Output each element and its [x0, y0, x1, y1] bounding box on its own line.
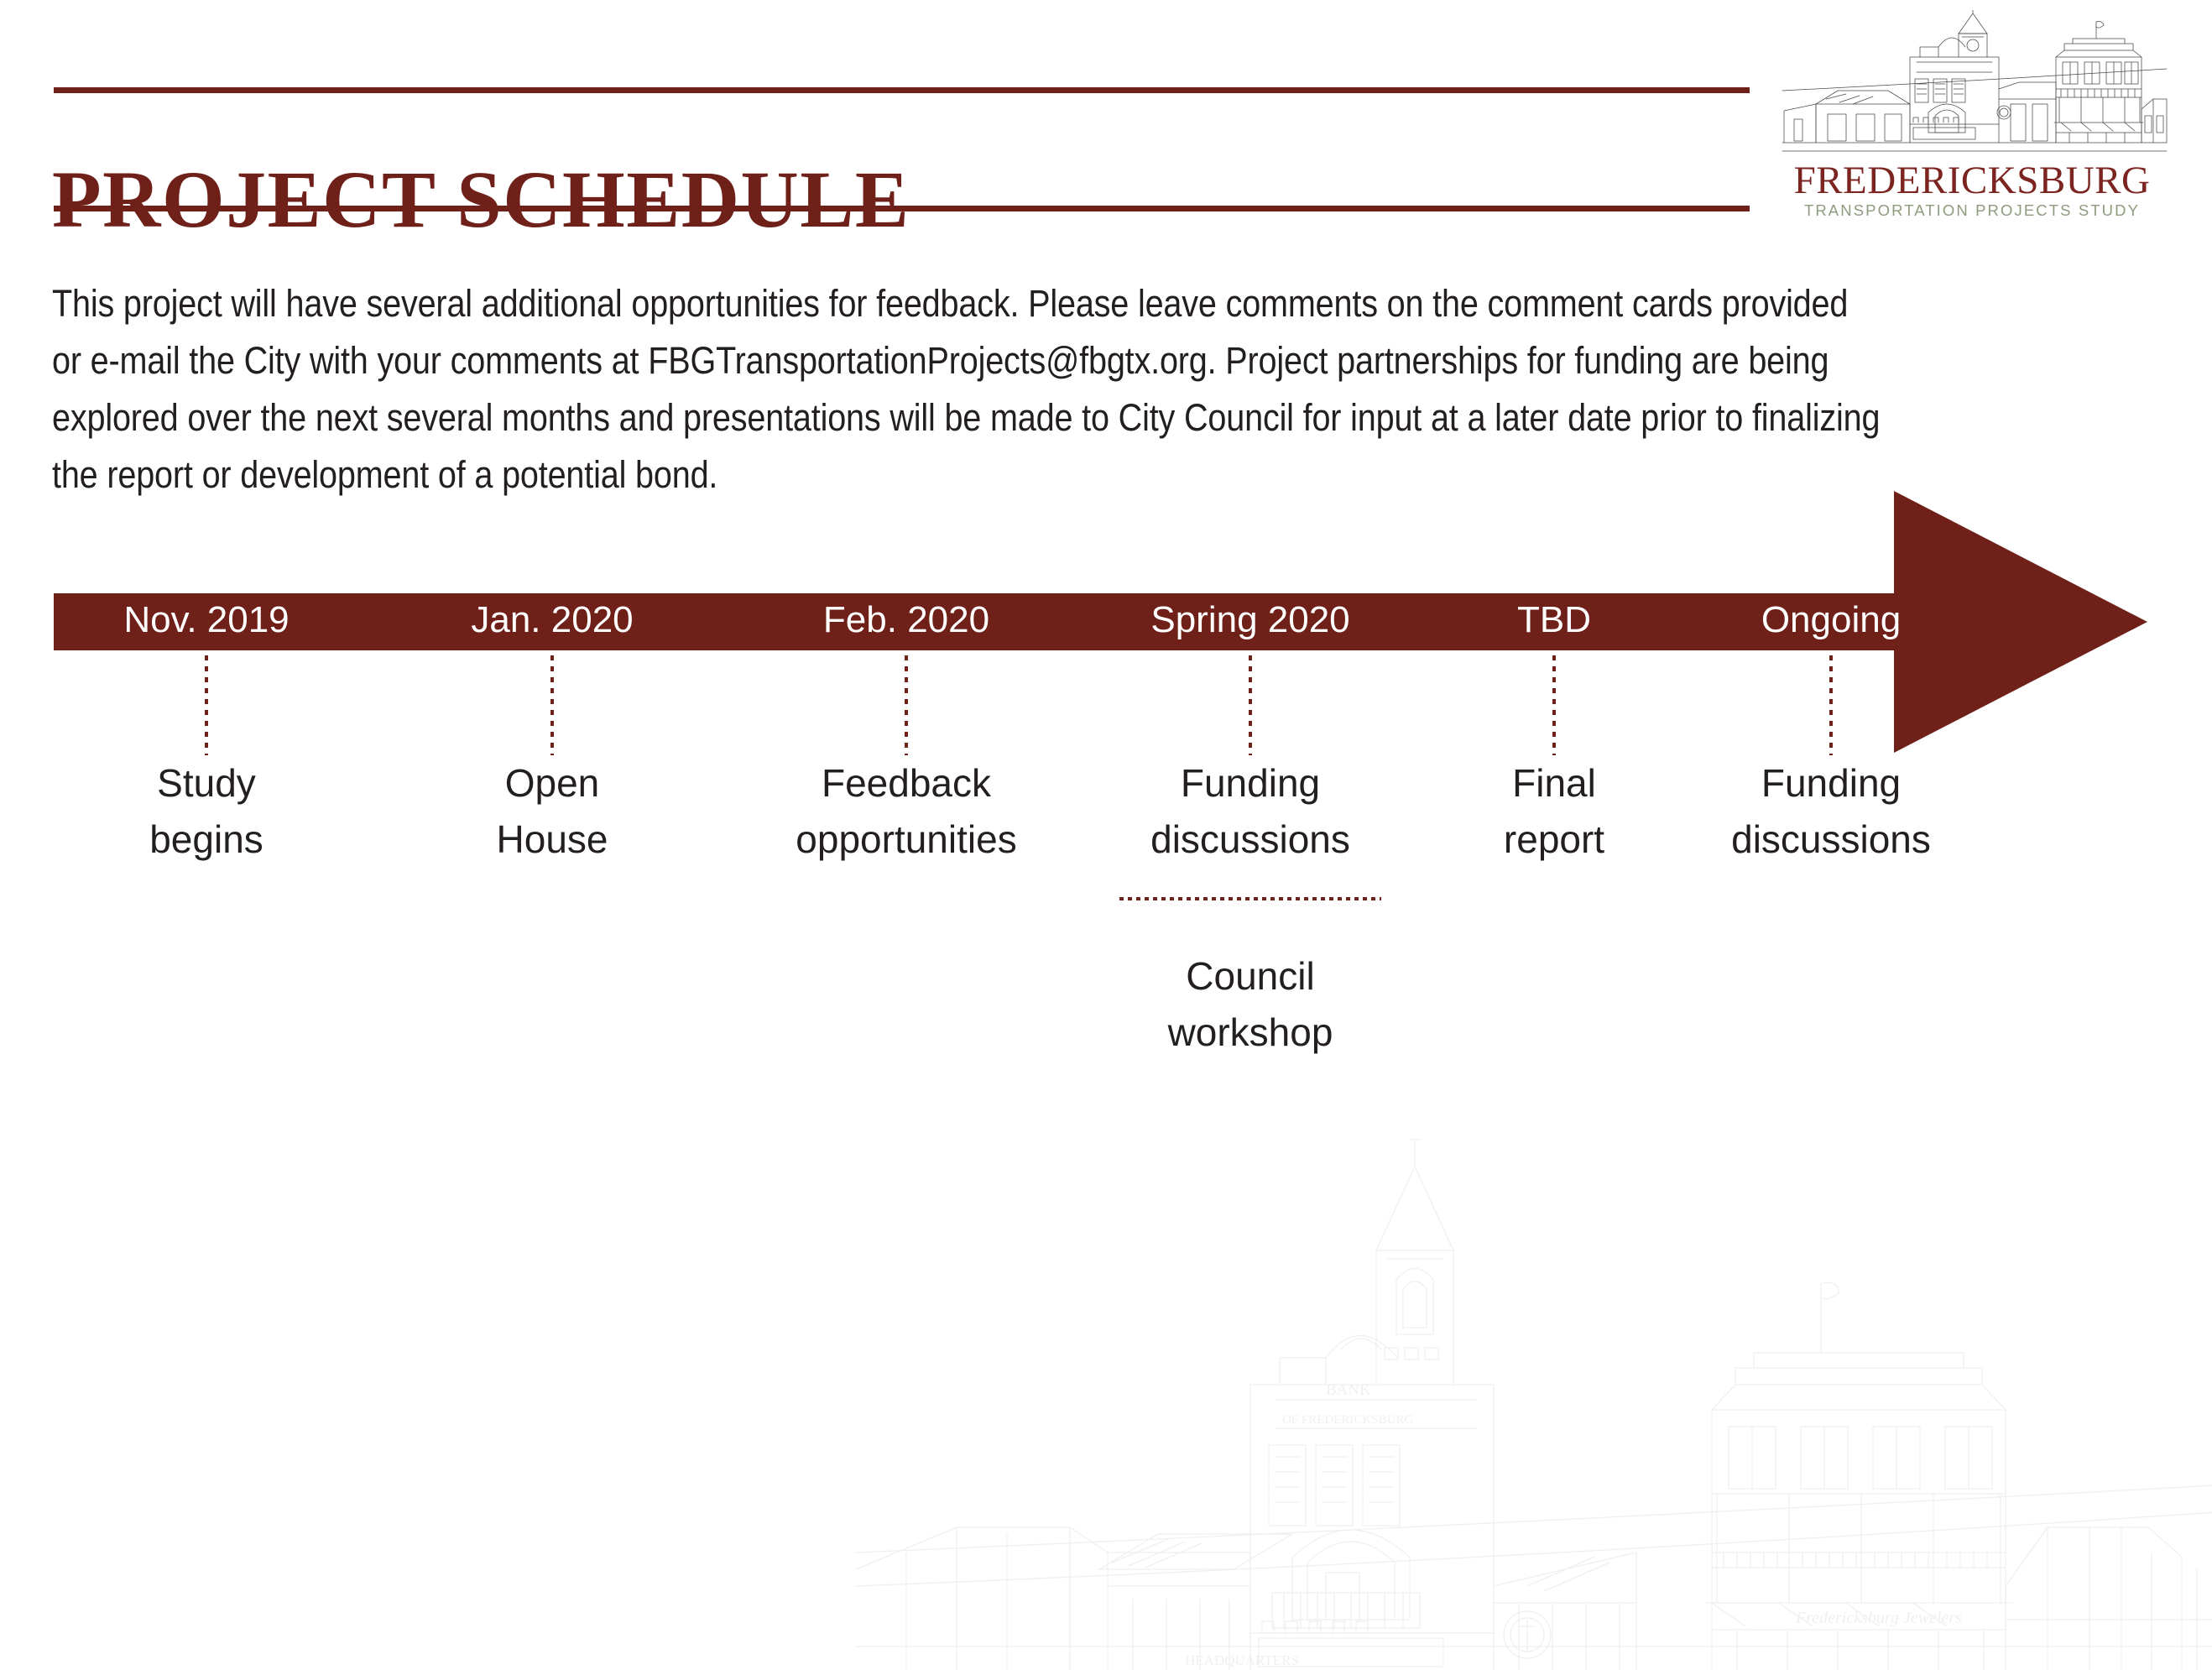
period-label-5: Ongoing	[1761, 598, 1901, 642]
connector-line-3	[1249, 645, 1252, 755]
streetscape-icon	[1779, 10, 2170, 161]
page-title: PROJECT SCHEDULE	[52, 153, 910, 247]
connector-line-5	[1829, 645, 1833, 755]
project-schedule-timeline: Nov. 2019 Jan. 2020 Feb. 2020 Spring 202…	[0, 0, 2212, 1658]
logo-wordmark: FREDERICKSBURG	[1769, 159, 2175, 201]
period-label-1: Jan. 2020	[471, 598, 633, 642]
sub-milestone-council-workshop: Council workshop	[1168, 948, 1333, 1061]
milestone-4: Final report	[1504, 755, 1604, 868]
period-label-4: TBD	[1517, 598, 1591, 642]
milestone-5: Funding discussions	[1731, 755, 1931, 868]
period-label-3: Spring 2020	[1150, 598, 1349, 642]
fredericksburg-logo: FREDERICKSBURG TRANSPORTATION PROJECTS S…	[1769, 10, 2175, 218]
title-rule-top	[54, 87, 1750, 93]
period-label-2: Feb. 2020	[823, 598, 989, 642]
timeline-arrow-shape	[54, 491, 2152, 753]
svg-text:OF FREDERICKSBURG: OF FREDERICKSBURG	[1282, 1413, 1413, 1427]
sub-milestone-divider	[1119, 897, 1381, 900]
milestone-1: Open House	[497, 755, 608, 868]
intro-paragraph: This project will have several additiona…	[52, 275, 1883, 504]
background-watermark-illustration: BANK OF FREDERICKSBURG HEADQUARTERS	[856, 1133, 2212, 1670]
milestone-0: Study begins	[149, 755, 263, 868]
title-rule-bottom	[54, 206, 1750, 211]
connector-line-0	[205, 645, 208, 755]
period-label-0: Nov. 2019	[123, 598, 289, 642]
connector-line-2	[905, 645, 908, 755]
connector-line-1	[550, 645, 554, 755]
connector-line-4	[1552, 645, 1556, 755]
svg-text:Fredericksburg Jewelers: Fredericksburg Jewelers	[1795, 1609, 1962, 1627]
svg-text:HEADQUARTERS: HEADQUARTERS	[1185, 1652, 1299, 1668]
logo-subwordmark: TRANSPORTATION PROJECTS STUDY	[1769, 201, 2175, 220]
milestone-3: Funding discussions	[1150, 755, 1350, 868]
svg-text:BANK: BANK	[1326, 1381, 1371, 1399]
milestone-2: Feedback opportunities	[796, 755, 1016, 868]
